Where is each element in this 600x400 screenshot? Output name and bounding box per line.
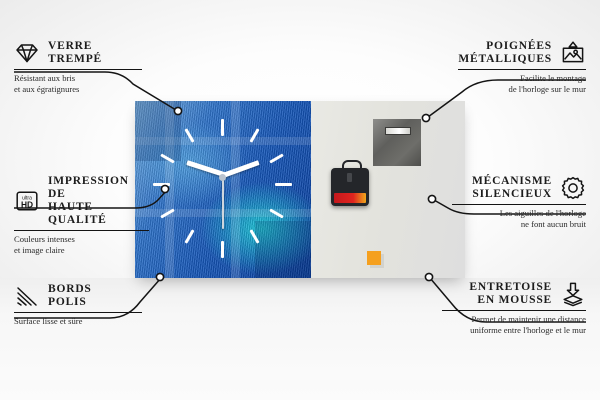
mechanism-hook xyxy=(342,160,362,172)
feature-subtitle: Facilite le montagede l'horloge sur le m… xyxy=(458,73,586,94)
ultra-hd-icon: ultra HD xyxy=(14,188,40,214)
feature-verre-trempe: VERRETREMPÉ Résistant aux briset aux égr… xyxy=(14,40,142,94)
arrow-press-layers-icon xyxy=(560,281,586,307)
feature-subtitle: Permet de maintenir une distanceuniforme… xyxy=(442,314,586,335)
feature-title: IMPRESSION DEHAUTE QUALITÉ xyxy=(48,175,149,227)
clock-tick xyxy=(153,183,170,186)
divider xyxy=(14,69,142,70)
divider xyxy=(458,69,586,70)
hanger-slot xyxy=(385,127,411,135)
feature-subtitle: Couleurs intenseset image claire xyxy=(14,234,149,255)
feature-title: POIGNÉESMÉTALLIQUES xyxy=(458,40,552,66)
divider xyxy=(14,312,142,313)
polished-edge-icon xyxy=(14,283,40,309)
foam-spacer xyxy=(367,251,381,265)
picture-frame-hanging-icon xyxy=(560,40,586,66)
clock-back-panel xyxy=(311,101,465,278)
feature-impression-haute-qualite: ultra HD IMPRESSION DEHAUTE QUALITÉ Coul… xyxy=(14,175,149,255)
gear-icon xyxy=(560,175,586,201)
feature-title: MÉCANISMESILENCIEUX xyxy=(472,175,552,201)
feature-mecanisme-silencieux: MÉCANISMESILENCIEUX Les aiguilles de l'h… xyxy=(452,175,586,229)
clock-front-face xyxy=(135,101,311,278)
mechanism-shaft xyxy=(347,173,352,182)
feature-subtitle: Résistant aux briset aux égratignures xyxy=(14,73,142,94)
divider xyxy=(452,204,586,205)
feature-title: VERRETREMPÉ xyxy=(48,40,102,66)
battery xyxy=(334,193,366,203)
diamond-icon xyxy=(14,40,40,66)
clock-tick xyxy=(269,153,283,163)
feature-bords-polis: BORDSPOLIS Surface lisse et sûre xyxy=(14,283,142,327)
divider xyxy=(14,230,149,231)
feature-title: BORDSPOLIS xyxy=(48,283,92,309)
feature-subtitle: Les aiguilles de l'horlogene font aucun … xyxy=(452,208,586,229)
divider xyxy=(442,310,586,311)
feature-entretoise-en-mousse: ENTRETOISEEN MOUSSE Permet de maintenir … xyxy=(442,281,586,335)
clock-hand-second xyxy=(222,177,224,229)
svg-text:HD: HD xyxy=(21,199,33,209)
clock-hand-minute xyxy=(222,160,259,177)
product-image xyxy=(135,101,465,278)
clock-tick xyxy=(221,119,224,136)
feature-title: ENTRETOISEEN MOUSSE xyxy=(469,281,552,307)
infographic-canvas: VERRETREMPÉ Résistant aux briset aux égr… xyxy=(0,0,600,400)
clock-center-cap xyxy=(219,174,226,181)
clock-tick xyxy=(221,241,224,258)
feature-poignees-metalliques: POIGNÉESMÉTALLIQUES Facilite le montaged… xyxy=(458,40,586,94)
clock-tick xyxy=(184,229,194,243)
clock-tick xyxy=(275,183,292,186)
metal-hanger-plate xyxy=(373,119,421,166)
clock-mechanism xyxy=(331,168,369,206)
feature-subtitle: Surface lisse et sûre xyxy=(14,316,142,327)
